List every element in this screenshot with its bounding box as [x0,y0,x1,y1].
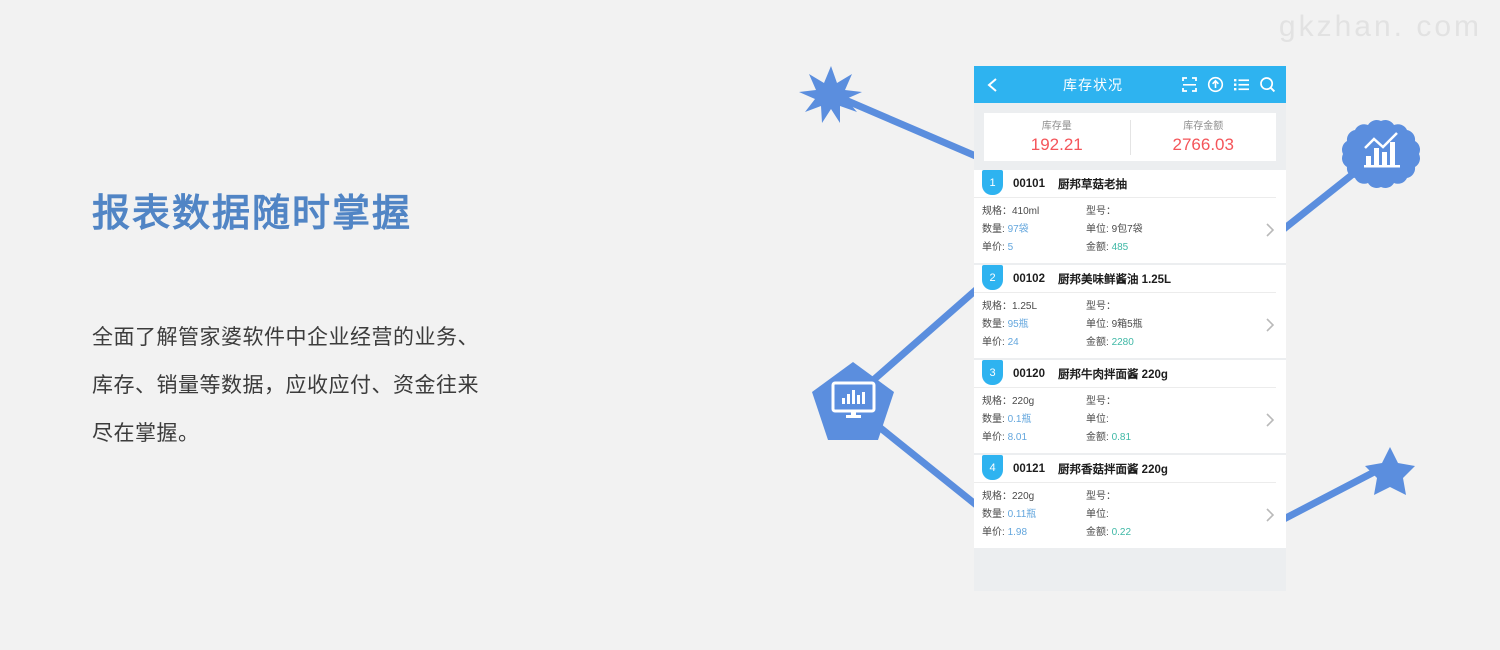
item-code: 00120 [1013,368,1045,380]
field-model-label: 型号： [1086,206,1116,217]
item-left-fields: 规格：220g 数量: 0.11瓶 单价: 1.98 [982,488,1086,542]
field-qty-label: 数量: [982,509,1005,520]
chevron-right-icon[interactable] [1265,221,1276,239]
item-code: 00102 [1013,273,1045,285]
list-icon[interactable] [1233,76,1250,93]
list-item-header: 3 00120 厨邦牛肉拌面酱 220g [974,360,1276,388]
field-amount: 金额: 0.81 [1086,429,1216,447]
upload-circle-icon[interactable] [1207,76,1224,93]
field-qty-label: 数量: [982,414,1005,425]
summary-label-quantity: 库存量 [984,120,1130,134]
app-header: 库存状况 [974,66,1286,103]
list-empty-tail [974,550,1286,591]
field-amount-value: 0.22 [1112,527,1131,538]
field-amount-label: 金额: [1086,242,1109,253]
description-line-1: 全面了解管家婆软件中企业经营的业务、 [92,314,652,362]
field-unit: 单位: 9包7袋 [1086,221,1216,239]
field-unit: 单位: [1086,411,1216,429]
list-item-body: 规格：1.25L 数量: 95瓶 单价: 24 型号： 单位: 9箱5瓶 金额:… [974,293,1286,358]
field-model: 型号： [1086,488,1216,506]
list-item[interactable]: 4 00121 厨邦香菇拌面酱 220g 规格：220g 数量: 0.11瓶 单… [974,455,1286,548]
inventory-list: 1 00101 厨邦草菇老抽 规格：410ml 数量: 97袋 单价: 5 型号… [974,170,1286,591]
connector-line-mid-lower [868,418,985,512]
field-unit: 单位: 9箱5瓶 [1086,316,1216,334]
field-amount-value: 2280 [1112,337,1134,348]
field-qty: 数量: 97袋 [982,221,1086,239]
summary-value-quantity: 192.21 [984,134,1130,155]
back-chevron-icon[interactable] [986,77,1000,93]
bar-line-chart-icon [1342,120,1420,188]
field-spec: 规格：410ml [982,203,1086,221]
field-unit-label: 单位: [1086,224,1109,235]
field-qty-label: 数量: [982,224,1005,235]
field-price-label: 单价: [982,432,1005,443]
field-spec: 规格：1.25L [982,298,1086,316]
field-amount: 金额: 2280 [1086,334,1216,352]
list-item[interactable]: 3 00120 厨邦牛肉拌面酱 220g 规格：220g 数量: 0.1瓶 单价… [974,360,1286,453]
item-left-fields: 规格：220g 数量: 0.1瓶 单价: 8.01 [982,393,1086,447]
field-model: 型号： [1086,298,1216,316]
field-unit-label: 单位: [1086,414,1109,425]
field-qty: 数量: 95瓶 [982,316,1086,334]
connector-line-top [836,96,985,160]
field-price-label: 单价: [982,527,1005,538]
item-name: 厨邦香菇拌面酱 220g [1058,461,1168,477]
item-name: 厨邦草菇老抽 [1058,176,1127,192]
field-price-label: 单价: [982,242,1005,253]
field-price-label: 单价: [982,337,1005,348]
field-price-value: 24 [1008,337,1019,348]
field-price: 单价: 5 [982,239,1086,257]
marketing-copy-block: 报表数据随时掌握 全面了解管家婆软件中企业经营的业务、 库存、销量等数据，应收应… [92,192,652,458]
item-index-badge: 1 [982,170,1003,195]
list-item-body: 规格：410ml 数量: 97袋 单价: 5 型号： 单位: 9包7袋 金额: … [974,198,1286,263]
field-qty: 数量: 0.11瓶 [982,506,1086,524]
item-index-badge: 4 [982,455,1003,480]
field-unit-value: 9包7袋 [1112,224,1143,235]
item-right-fields: 型号： 单位: 9包7袋 金额: 485 [1086,203,1216,257]
item-index-badge: 2 [982,265,1003,290]
field-qty-label: 数量: [982,319,1005,330]
field-price: 单价: 1.98 [982,524,1086,542]
field-model-label: 型号： [1086,301,1116,312]
field-unit-label: 单位: [1086,509,1109,520]
monitor-chart-icon [812,362,894,440]
summary-cell-quantity: 库存量 192.21 [984,120,1130,155]
item-code: 00121 [1013,463,1045,475]
connector-line-mid-upper [862,282,985,390]
star-icon [1365,447,1415,495]
page-title: 报表数据随时掌握 [92,192,652,238]
field-qty-value: 95瓶 [1008,319,1029,330]
field-qty-value: 0.11瓶 [1008,509,1037,520]
field-spec-value: 220g [1012,491,1034,502]
field-spec-value: 410ml [1012,206,1039,217]
field-amount-label: 金额: [1086,337,1109,348]
field-spec: 规格：220g [982,393,1086,411]
field-unit-value: 9箱5瓶 [1112,319,1143,330]
field-model: 型号： [1086,203,1216,221]
list-item[interactable]: 1 00101 厨邦草菇老抽 规格：410ml 数量: 97袋 单价: 5 型号… [974,170,1286,263]
scan-icon[interactable] [1181,76,1198,93]
search-icon[interactable] [1259,76,1276,93]
list-item[interactable]: 2 00102 厨邦美味鲜酱油 1.25L 规格：1.25L 数量: 95瓶 单… [974,265,1286,358]
item-right-fields: 型号： 单位: 金额: 0.81 [1086,393,1216,447]
field-qty-value: 0.1瓶 [1008,414,1032,425]
list-item-body: 规格：220g 数量: 0.1瓶 单价: 8.01 型号： 单位: 金额: 0.… [974,388,1286,453]
field-amount-label: 金额: [1086,527,1109,538]
item-name: 厨邦牛肉拌面酱 220g [1058,366,1168,382]
field-qty-value: 97袋 [1008,224,1029,235]
app-title: 库存状况 [1000,75,1172,95]
field-unit: 单位: [1086,506,1216,524]
inventory-summary-card: 库存量 192.21 库存金额 2766.03 [984,113,1276,161]
connector-line-right-lower [1282,470,1378,520]
chevron-right-icon[interactable] [1265,506,1276,524]
field-price: 单价: 24 [982,334,1086,352]
field-spec-label: 规格： [982,491,1012,502]
summary-value-amount: 2766.03 [1131,134,1277,155]
field-qty: 数量: 0.1瓶 [982,411,1086,429]
field-price-value: 5 [1008,242,1014,253]
chevron-right-icon[interactable] [1265,316,1276,334]
list-item-header: 1 00101 厨邦草菇老抽 [974,170,1276,198]
field-spec: 规格：220g [982,488,1086,506]
field-model-label: 型号： [1086,396,1116,407]
field-model-label: 型号： [1086,491,1116,502]
summary-cell-amount: 库存金额 2766.03 [1130,120,1277,155]
field-spec-value: 1.25L [1012,301,1037,312]
field-price-value: 8.01 [1008,432,1027,443]
field-spec-label: 规格： [982,206,1012,217]
list-item-header: 2 00102 厨邦美味鲜酱油 1.25L [974,265,1276,293]
field-spec-value: 220g [1012,396,1034,407]
item-name: 厨邦美味鲜酱油 1.25L [1058,271,1171,287]
field-amount-value: 485 [1112,242,1129,253]
item-index-badge: 3 [982,360,1003,385]
starburst-icon [799,66,862,123]
field-model: 型号： [1086,393,1216,411]
item-right-fields: 型号： 单位: 金额: 0.22 [1086,488,1216,542]
phone-mockup: 库存状况 库存量 192.21 库存金额 27 [974,66,1286,591]
field-amount: 金额: 0.22 [1086,524,1216,542]
description-text: 全面了解管家婆软件中企业经营的业务、 库存、销量等数据，应收应付、资金往来 尽在… [92,314,652,458]
description-line-2: 库存、销量等数据，应收应付、资金往来 [92,362,652,410]
item-code: 00101 [1013,178,1045,190]
item-right-fields: 型号： 单位: 9箱5瓶 金额: 2280 [1086,298,1216,352]
field-amount: 金额: 485 [1086,239,1216,257]
chevron-right-icon[interactable] [1265,411,1276,429]
description-line-3: 尽在掌握。 [92,410,652,458]
field-unit-label: 单位: [1086,319,1109,330]
summary-label-amount: 库存金额 [1131,120,1277,134]
field-spec-label: 规格： [982,396,1012,407]
item-left-fields: 规格：1.25L 数量: 95瓶 单价: 24 [982,298,1086,352]
field-price-value: 1.98 [1008,527,1027,538]
field-price: 单价: 8.01 [982,429,1086,447]
item-left-fields: 规格：410ml 数量: 97袋 单价: 5 [982,203,1086,257]
list-item-header: 4 00121 厨邦香菇拌面酱 220g [974,455,1276,483]
site-watermark: gkzhan. com [1279,10,1482,44]
list-item-body: 规格：220g 数量: 0.11瓶 单价: 1.98 型号： 单位: 金额: 0… [974,483,1286,548]
field-spec-label: 规格： [982,301,1012,312]
field-amount-label: 金额: [1086,432,1109,443]
field-amount-value: 0.81 [1112,432,1131,443]
connector-line-right-upper [1280,170,1358,232]
